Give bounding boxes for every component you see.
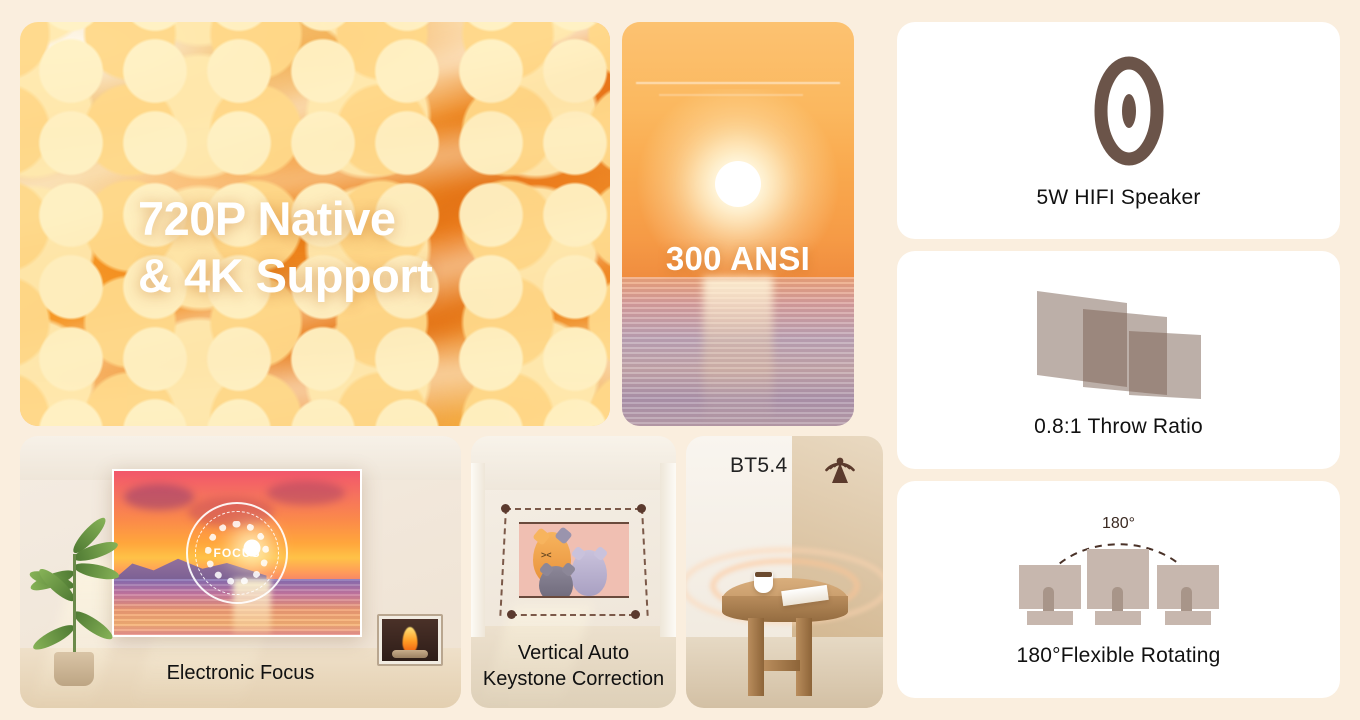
left-column: 720P Native & 4K Support 300 ANSI	[20, 22, 885, 698]
keystone-panel: >< Vertical Auto Keystone Correction	[471, 436, 676, 708]
leaf	[73, 560, 121, 582]
keystone-label-line2: Keystone Correction	[471, 666, 676, 692]
flame-icon	[403, 627, 418, 653]
speaker-label: 5W HIFI Speaker	[1036, 186, 1200, 210]
keystone-handle[interactable]	[637, 504, 646, 513]
projection-screen: FOCUS	[112, 469, 362, 637]
firebox	[382, 619, 438, 661]
hero-title: 720P Native & 4K Support	[138, 190, 432, 305]
hero-title-line2: & 4K Support	[138, 247, 432, 304]
hero-title-line1: 720P Native	[138, 190, 432, 247]
cat-face: ><	[541, 550, 552, 560]
bottom-row: FOCUS	[20, 436, 885, 708]
keystone-handle[interactable]	[501, 504, 510, 513]
coffee-liquid	[755, 572, 772, 577]
brightness-panel: 300 ANSI	[622, 22, 854, 426]
window-right	[660, 463, 676, 637]
table-stretcher	[764, 660, 800, 671]
hero-panel-resolution: 720P Native & 4K Support	[20, 22, 610, 426]
bluetooth-panel: BT5.4	[686, 436, 883, 708]
window-left	[471, 463, 485, 637]
feature-card-speaker: 5W HIFI Speaker	[897, 22, 1340, 239]
table-leg	[796, 618, 812, 696]
rotating-projector-icon: 180°	[1013, 510, 1225, 628]
electronic-focus-panel: FOCUS	[20, 436, 461, 708]
cloud	[124, 484, 194, 510]
room-ceiling	[471, 436, 676, 490]
feature-card-rotating: 180° 180°Flexible Rotating	[897, 481, 1340, 698]
plant-stem	[73, 554, 76, 654]
fireplace-icon	[377, 614, 443, 666]
keystone-label: Vertical Auto Keystone Correction	[471, 640, 676, 692]
keystone-label-line1: Vertical Auto	[471, 640, 676, 666]
keystone-handle[interactable]	[507, 610, 516, 619]
angle-label: 180°	[1102, 515, 1135, 533]
rotating-label: 180°Flexible Rotating	[1016, 644, 1220, 668]
keystone-handle[interactable]	[631, 610, 640, 619]
broadcast-tower-icon	[821, 444, 859, 491]
top-row: 720P Native & 4K Support 300 ANSI	[20, 22, 885, 426]
feature-grid-page: 720P Native & 4K Support 300 ANSI	[0, 0, 1360, 720]
focus-dial: FOCUS	[186, 502, 288, 604]
leaf	[70, 607, 115, 644]
keystone-guide	[505, 508, 641, 510]
dial-label: FOCUS	[186, 502, 288, 604]
speaker-icon	[1071, 52, 1167, 170]
firewood	[392, 650, 428, 658]
sun-reflection	[703, 277, 773, 426]
leaf	[30, 621, 77, 654]
throw-ratio-label: 0.8:1 Throw Ratio	[1034, 415, 1203, 439]
brightness-title: 300 ANSI	[622, 240, 854, 278]
feature-card-throw-ratio: 0.8:1 Throw Ratio	[897, 251, 1340, 468]
sun-icon	[715, 161, 761, 207]
floor-rug	[686, 637, 883, 708]
overlapping-screens-icon	[1031, 281, 1207, 399]
cloud-streak	[636, 82, 840, 84]
table-leg	[748, 618, 764, 696]
keystone-guide	[511, 614, 635, 616]
electronic-focus-label: Electronic Focus	[20, 660, 461, 686]
projected-image-cats: ><	[519, 522, 629, 598]
right-column: 5W HIFI Speaker 0.8:1 Throw Ratio	[897, 22, 1340, 698]
bluetooth-label: BT5.4	[730, 454, 788, 478]
